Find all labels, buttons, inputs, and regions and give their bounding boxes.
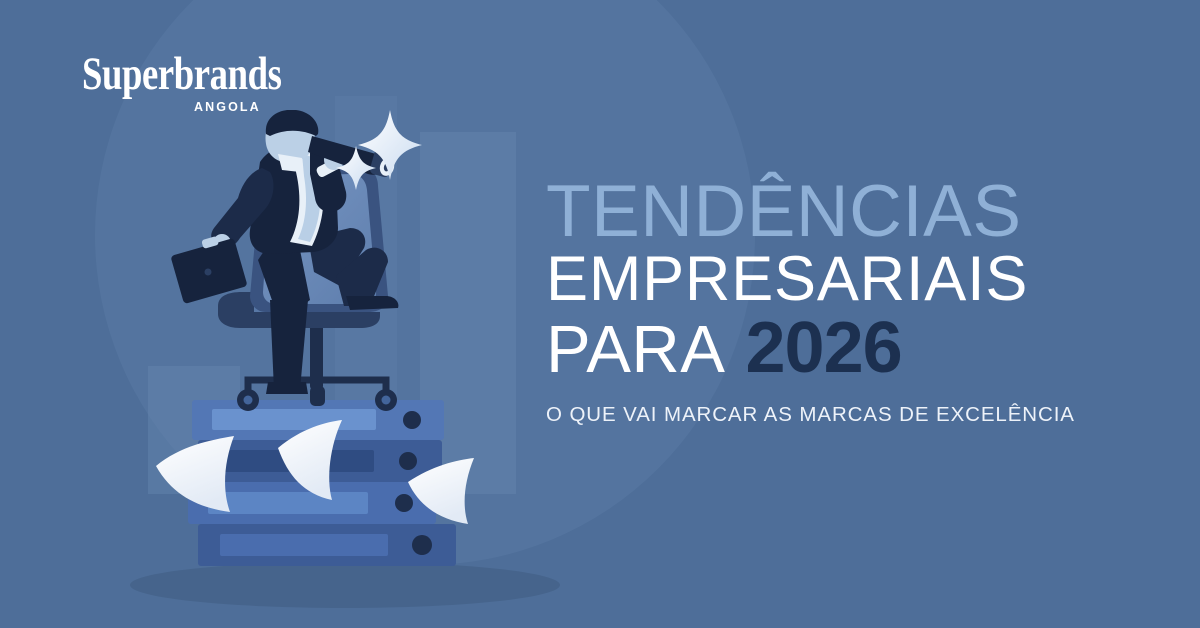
headline-line-empresariais: EMPRESARIAIS (546, 251, 1106, 309)
headline-block: TENDÊNCIAS EMPRESARIAIS PARA 2026 O QUE … (546, 178, 1106, 427)
headline-word-para: PARA (546, 319, 725, 381)
logo-wordmark: Superbrands (82, 52, 261, 97)
headline-subtitle: O QUE VAI MARCAR AS MARCAS DE EXCELÊNCIA (546, 403, 1106, 427)
headline-line-tendencias: TENDÊNCIAS (546, 178, 1106, 245)
poster-canvas: Superbrands ANGOLA TENDÊNCIAS EMPRESARIA… (0, 0, 1200, 628)
headline-year-2026: 2026 (745, 315, 901, 381)
headline-line-para-2026: PARA 2026 (546, 315, 1106, 381)
hero-illustration (150, 110, 570, 610)
paper-left (156, 436, 234, 512)
binder-bottom (198, 524, 456, 566)
shoe-front (346, 296, 398, 310)
chair-cylinder (310, 320, 323, 390)
shoe-back (266, 382, 308, 394)
businessman (170, 110, 398, 394)
superbrands-logo: Superbrands ANGOLA (82, 52, 312, 114)
